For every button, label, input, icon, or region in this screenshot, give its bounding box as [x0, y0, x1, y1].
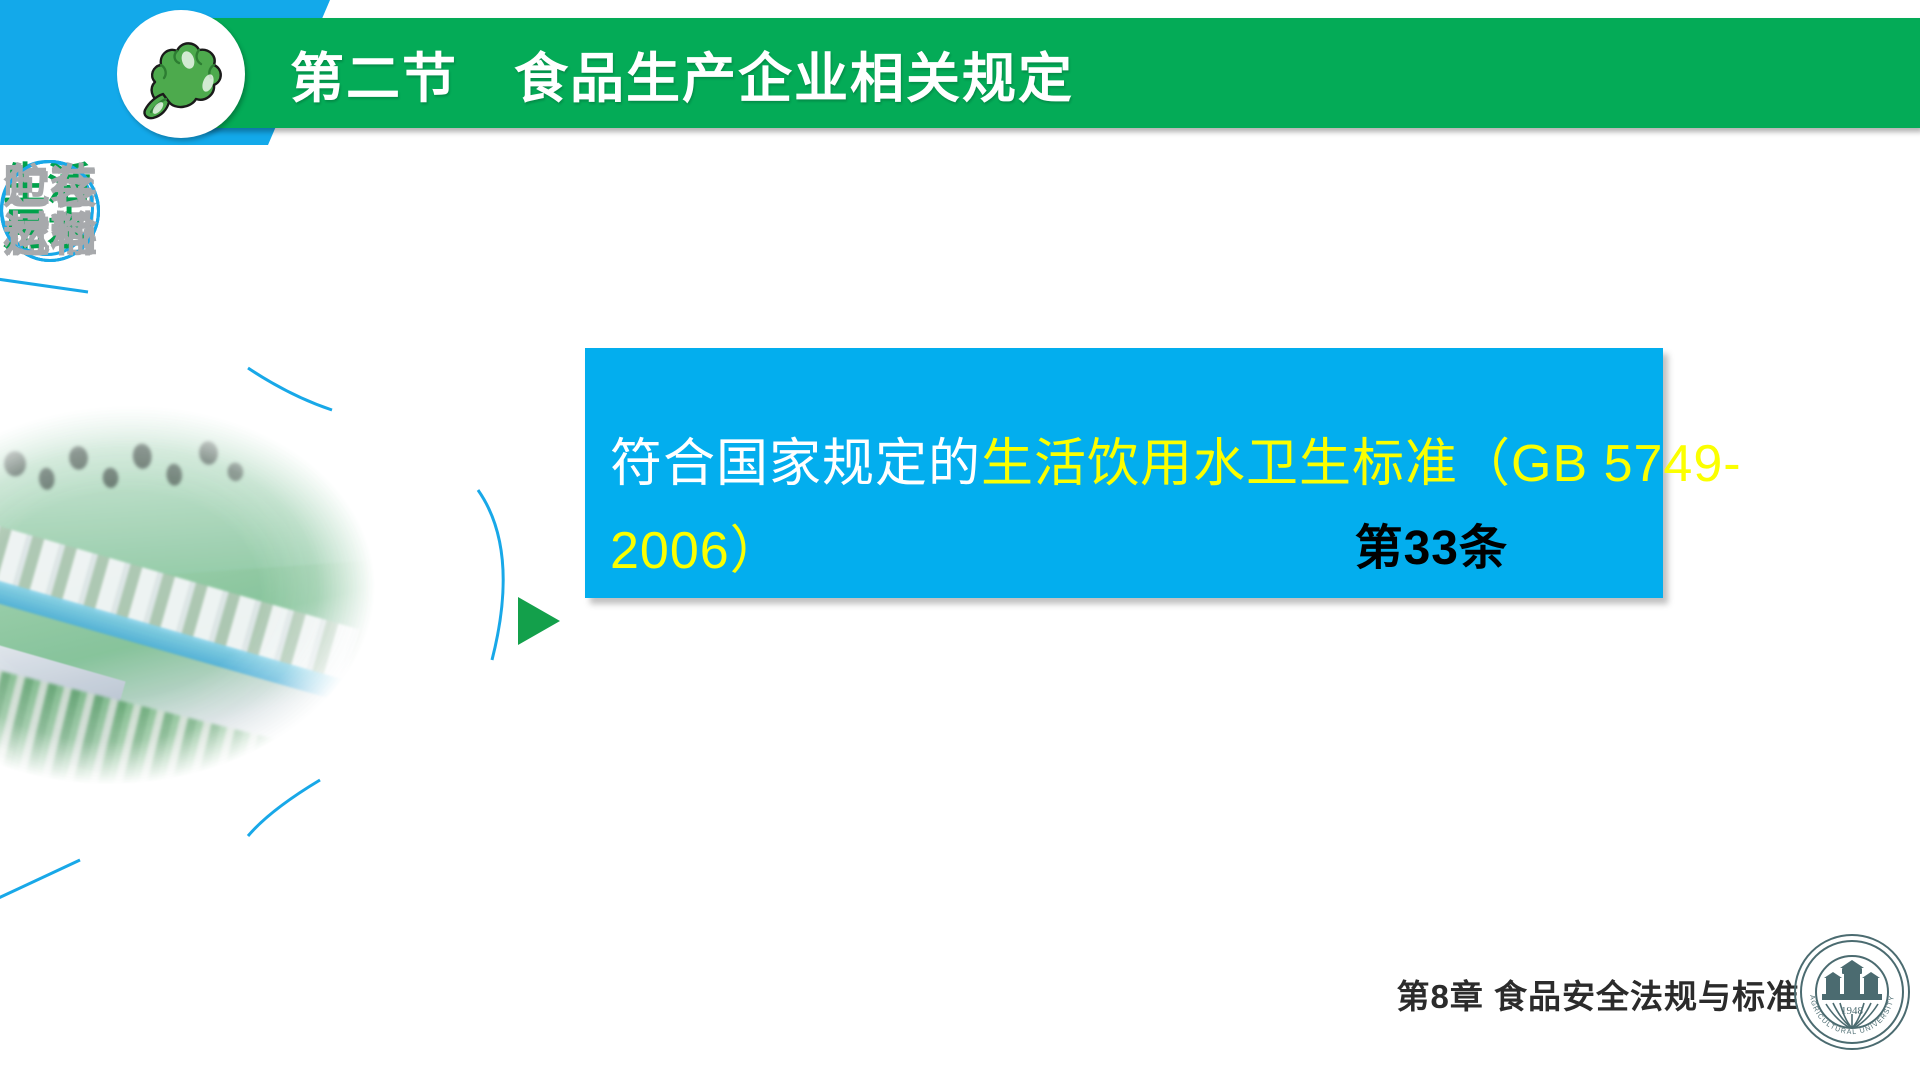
slide-footer: 第8章 食品安全法规与标准: [1396, 970, 1800, 1018]
slide-header: 第二节 食品生产企业相关规定: [0, 0, 1920, 160]
content-line1-plain: 符合国家规定的: [610, 435, 981, 493]
right-triangle-arrow-icon: [518, 597, 560, 645]
article-number-label: 第33条: [1355, 508, 1508, 578]
logo-en-top: JILIN: [1792, 932, 1815, 934]
logo-year: 1948: [1841, 1005, 1864, 1017]
footer-chapter-text: 第8章 食品安全法规与标准: [1396, 970, 1800, 1018]
node-storage-line2: 运输: [3, 211, 97, 259]
page-title: 第二节 食品生产企业相关规定: [290, 18, 1074, 128]
broccoli-icon: [117, 10, 245, 138]
jilin-agricultural-university-logo: 1948 JILIN AGRICULTURAL UNIVERSITY: [1792, 932, 1912, 1052]
node-storage-line1: 贮存: [3, 163, 97, 211]
mindmap-node-storage[interactable]: 贮存 运输: [0, 160, 100, 262]
content-callout-box: 符合国家规定的生活饮用水卫生标准（GB 5749- 2006） 第33条: [585, 348, 1663, 598]
content-line-1: 符合国家规定的生活饮用水卫生标准（GB 5749-: [610, 421, 1742, 496]
slide-canvas: 第二节 食品生产企业相关规定 工艺 流程 生活 用水 包装 材料 贮存 运: [0, 0, 1920, 1080]
content-line1-highlight: 生活饮用水卫生标准（GB 5749-: [981, 435, 1742, 493]
content-line-2: 2006）: [610, 508, 783, 583]
